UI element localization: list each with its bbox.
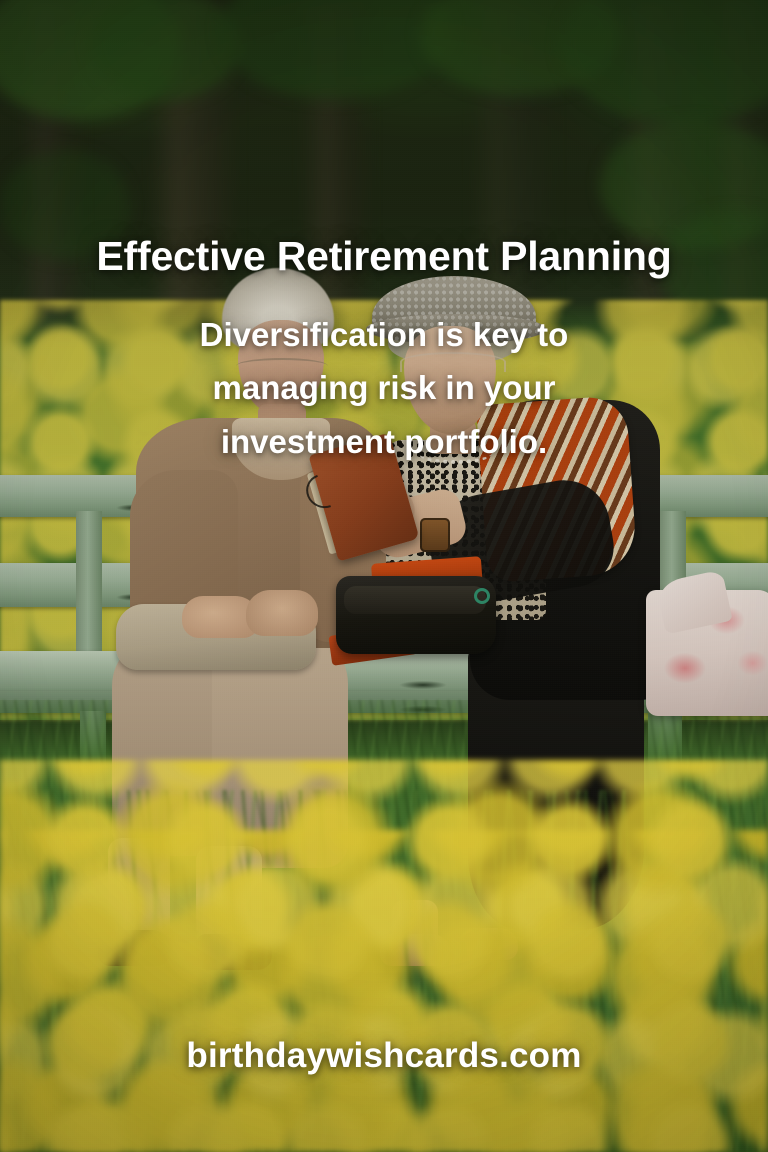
site-watermark: birthdaywishcards.com: [0, 1036, 768, 1076]
text-overlay: Effective Retirement Planning Diversific…: [0, 0, 768, 1152]
greeting-card: Effective Retirement Planning Diversific…: [0, 0, 768, 1152]
card-title: Effective Retirement Planning: [0, 234, 768, 278]
card-subtitle: Diversification is key to managing risk …: [0, 308, 768, 468]
